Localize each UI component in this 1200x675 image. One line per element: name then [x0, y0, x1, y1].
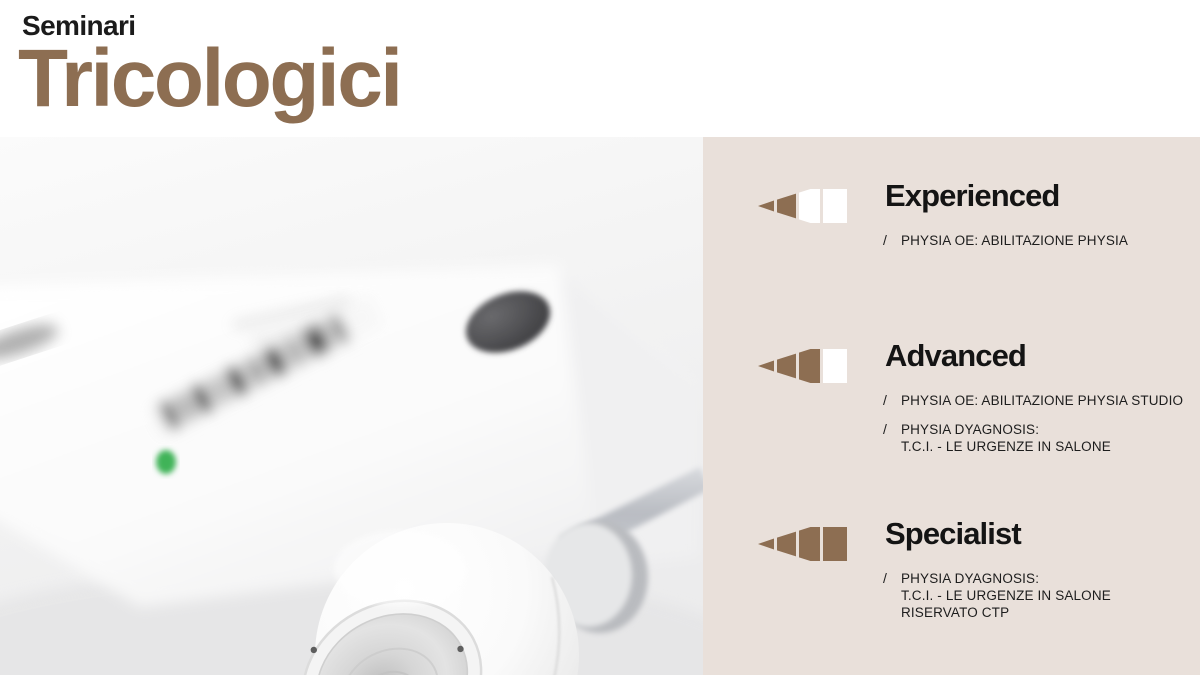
slide-root: Seminari Tricologici [0, 0, 1200, 675]
rank-arrow-icon-advanced [758, 349, 850, 383]
bullet-line: RISERVATO CTP [901, 604, 1200, 621]
level-bullets-advanced: / PHYSIA OE: ABILITAZIONE PHYSIA STUDIO … [883, 392, 1200, 455]
level-bullets-specialist: / PHYSIA DYAGNOSIS: T.C.I. - LE URGENZE … [883, 570, 1200, 621]
bullet-line: PHYSIA OE: ABILITAZIONE PHYSIA STUDIO [901, 392, 1200, 409]
bullet-slash-icon: / [883, 570, 887, 587]
levels-panel: Experienced / PHYSIA OE: ABILITAZIONE PH… [703, 137, 1200, 675]
bullet-slash-icon: / [883, 392, 887, 409]
product-photo-illustration [0, 137, 703, 675]
level-title-specialist: Specialist [885, 515, 1021, 554]
bullet-line: PHYSIA DYAGNOSIS: [901, 570, 1200, 587]
bullet-item: / PHYSIA OE: ABILITAZIONE PHYSIA STUDIO [883, 392, 1200, 409]
bullet-slash-icon: / [883, 421, 887, 438]
rank-arrow-icon-experienced [758, 189, 850, 223]
rank-arrow-icon-specialist [758, 527, 850, 561]
bullet-line: PHYSIA DYAGNOSIS: [901, 421, 1200, 438]
slide-header: Seminari Tricologici [0, 0, 1200, 137]
bullet-item: / PHYSIA DYAGNOSIS: T.C.I. - LE URGENZE … [883, 421, 1200, 455]
bullet-slash-icon: / [883, 232, 887, 249]
level-title-advanced: Advanced [885, 337, 1026, 376]
level-title-experienced: Experienced [885, 177, 1059, 216]
header-wordmark: Tricologici [18, 38, 401, 120]
bullet-line: PHYSIA OE: ABILITAZIONE PHYSIA [901, 232, 1200, 249]
bullet-line: T.C.I. - LE URGENZE IN SALONE [901, 438, 1200, 455]
level-bullets-experienced: / PHYSIA OE: ABILITAZIONE PHYSIA [883, 232, 1200, 249]
bullet-line: T.C.I. - LE URGENZE IN SALONE [901, 587, 1200, 604]
bullet-item: / PHYSIA OE: ABILITAZIONE PHYSIA [883, 232, 1200, 249]
green-led-indicator [156, 450, 176, 474]
product-photo [0, 137, 703, 675]
bullet-item: / PHYSIA DYAGNOSIS: T.C.I. - LE URGENZE … [883, 570, 1200, 621]
